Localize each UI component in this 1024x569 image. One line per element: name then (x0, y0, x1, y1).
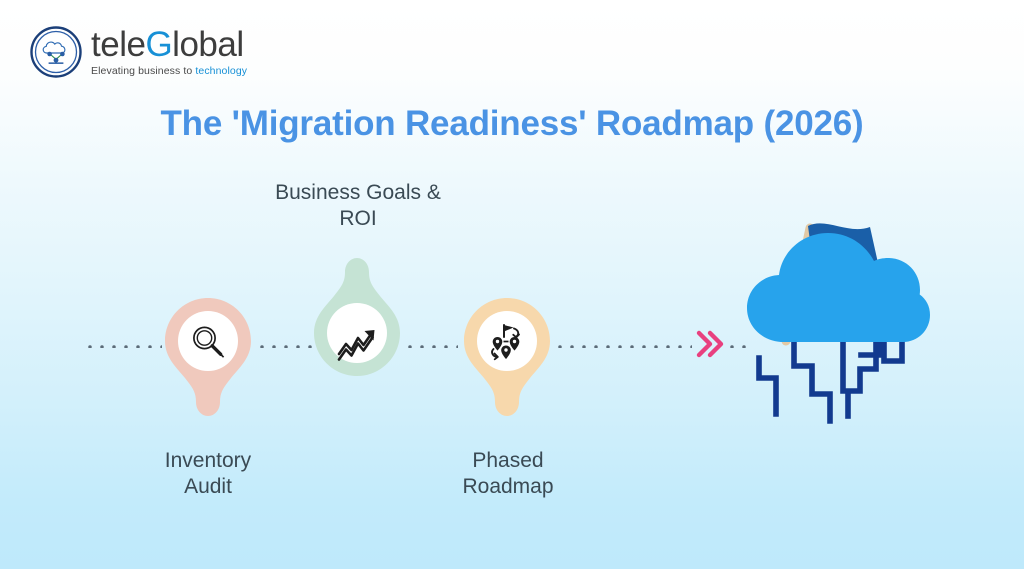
roadmap-step-business-goals-roi[interactable] (314, 248, 400, 376)
growth-arrow-chart-icon (314, 320, 400, 372)
tagline-accent: technology (195, 65, 247, 77)
magnifying-glass-icon (165, 316, 251, 368)
step-label-business-goals-roi: Business Goals & ROI (258, 180, 458, 232)
brand-tagline: Elevating business to technology (91, 66, 247, 77)
wordmark-part1: tele (91, 25, 145, 64)
connector-dotted-segment (84, 344, 162, 348)
destination-cloud-group[interactable]: LAUNCH (742, 206, 932, 456)
slide-canvas: teleGlobal Elevating business to technol… (0, 0, 1024, 569)
connector-dotted-segment (554, 344, 692, 348)
brand-logo[interactable]: teleGlobal Elevating business to technol… (30, 26, 247, 78)
step-label-phased-roadmap: Phased Roadmap (418, 448, 598, 500)
tagline-part1: Elevating business to (91, 65, 195, 77)
roadmap-step-phased-roadmap[interactable] (464, 298, 550, 426)
double-chevron-right-icon (696, 326, 726, 362)
teleglobal-cloud-network-logo-icon (30, 26, 82, 78)
connector-dotted-segment (404, 344, 458, 348)
wordmark-accent: G (145, 25, 172, 64)
page-title: The 'Migration Readiness' Roadmap (2026) (0, 104, 1024, 144)
brand-wordmark-group: teleGlobal Elevating business to technol… (91, 27, 247, 77)
step-label-inventory-audit: Inventory Audit (118, 448, 298, 500)
route-map-pins-icon (464, 316, 550, 368)
circuit-board-lines-icon (759, 336, 902, 421)
connector-dotted-segment (256, 344, 314, 348)
brand-wordmark: teleGlobal (91, 27, 247, 62)
wordmark-part2: lobal (172, 25, 243, 64)
roadmap-step-inventory-audit[interactable] (165, 298, 251, 426)
cloud-icon (747, 233, 930, 342)
